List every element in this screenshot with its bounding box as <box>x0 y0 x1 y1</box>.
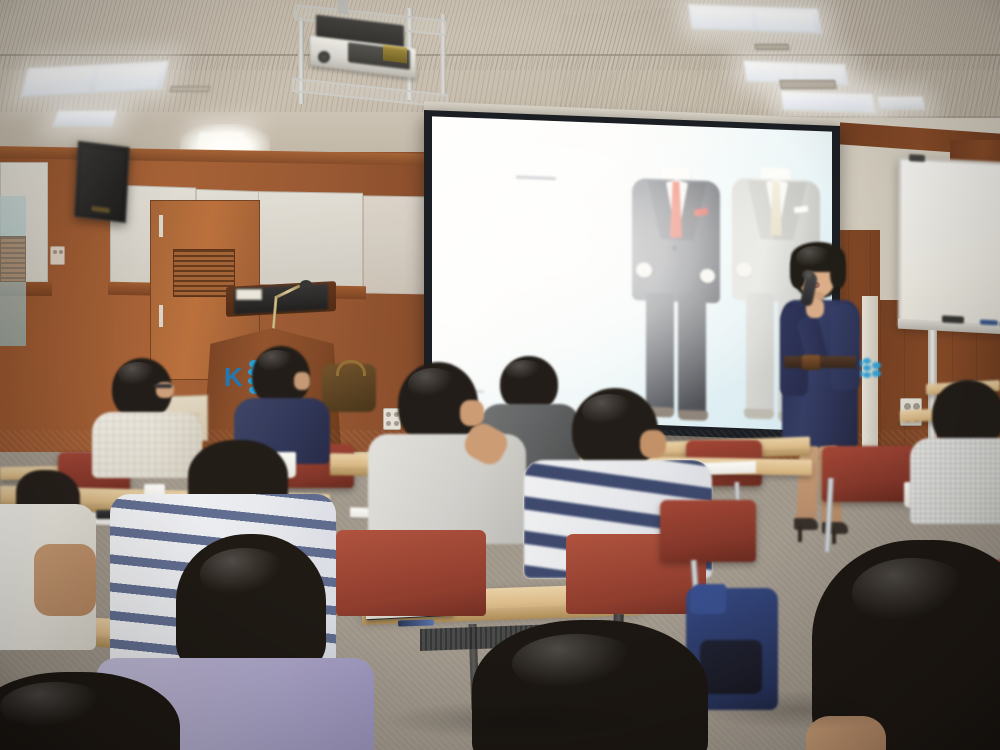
attendee-5-ear <box>640 430 666 458</box>
whiteboard-marker-1[interactable] <box>980 320 998 326</box>
floor-shadow-2 <box>700 690 900 730</box>
power-outlet-left[interactable] <box>50 246 65 265</box>
presenter-leg-left <box>796 446 820 523</box>
backpack-strap <box>690 584 726 614</box>
presenter-belt <box>784 356 856 368</box>
door-hinge-top <box>159 215 163 237</box>
seminar-room-photo: K <box>0 0 1000 750</box>
floor-shadow-1 <box>380 700 660 740</box>
lectern-microphone-head <box>300 280 312 289</box>
pen-front[interactable] <box>398 619 434 626</box>
projector-connector-block <box>383 45 407 64</box>
acoustic-panel-4 <box>258 191 363 293</box>
presenter-sleeve-right <box>830 304 860 390</box>
lectern-name-plate <box>236 289 262 300</box>
attendee-white-tshirt <box>0 470 100 650</box>
whiteboard-clip <box>909 154 925 162</box>
recessed-fluorescent-panel-2 <box>688 4 823 35</box>
attendee-1-glasses <box>154 384 172 388</box>
presenter-heel-left <box>798 526 802 542</box>
recessed-downlight-3 <box>877 96 925 110</box>
recessed-downlight-1 <box>52 110 118 127</box>
ceiling-air-vent-3 <box>169 86 211 92</box>
wall-speaker <box>74 141 130 223</box>
recessed-fluorescent-panel-4 <box>780 90 876 113</box>
projector-assembly <box>288 2 448 110</box>
whiteboard[interactable] <box>898 157 1000 334</box>
attendee-4-ear <box>460 400 484 426</box>
ceiling-air-vent-2 <box>779 80 837 89</box>
chair-mid-right[interactable] <box>660 500 756 562</box>
attendee-6-pattern <box>910 438 1000 524</box>
whiteboard-eraser[interactable] <box>942 315 964 323</box>
door-hinge-bottom <box>159 305 163 327</box>
ceiling-air-vent-1 <box>754 44 789 50</box>
attendee-patterned-top <box>910 402 1000 522</box>
projector-lens <box>318 51 330 63</box>
attendee-bottom-left-head <box>0 672 190 750</box>
presenter-hair-side-right <box>830 254 846 288</box>
attendee-grey-tshirt <box>368 362 528 542</box>
door-louver-left <box>0 236 26 282</box>
attendee-2-face-edge <box>294 372 310 390</box>
attendee-7-arm <box>34 544 96 616</box>
projector-ceiling-anchor <box>338 0 348 15</box>
presenter-belt-buckle <box>802 355 820 370</box>
